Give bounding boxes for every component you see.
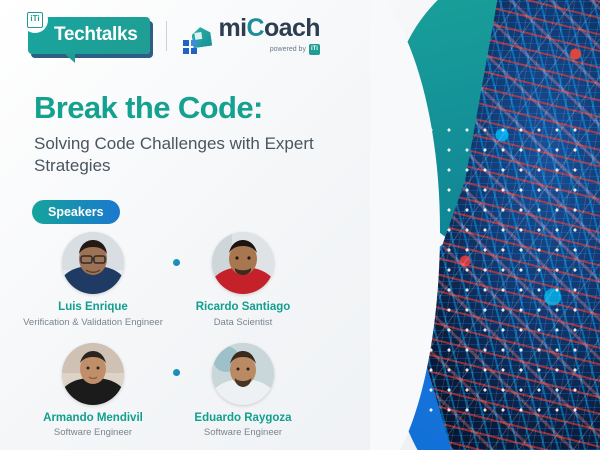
avatar bbox=[212, 343, 274, 405]
micoach-name-part1: mi bbox=[219, 14, 247, 42]
techtalks-logo: iTi Techtalks bbox=[28, 17, 150, 54]
speaker-role: Verification & Validation Engineer bbox=[18, 317, 168, 329]
avatar bbox=[212, 232, 274, 294]
page-subtitle: Solving Code Challenges with Expert Stra… bbox=[34, 133, 364, 178]
powered-by-label: powered by bbox=[270, 46, 306, 53]
speaker-name: Eduardo Raygoza bbox=[168, 412, 318, 426]
dot-separator-icon bbox=[173, 369, 180, 376]
square-d bbox=[191, 40, 197, 46]
powered-by-line: powered by iTi bbox=[270, 44, 320, 55]
square-c bbox=[191, 48, 197, 54]
micoach-text-block: miCoach powered by iTi bbox=[219, 16, 320, 55]
speaker-name: Armando Mendivil bbox=[18, 412, 168, 426]
avatar-photo-eduardo bbox=[212, 343, 274, 405]
micoach-name-part3: oach bbox=[264, 14, 320, 42]
speaker-card: Armando Mendivil Software Engineer bbox=[18, 343, 168, 440]
speakers-grid: Luis Enrique Verification & Validation E… bbox=[18, 232, 318, 439]
techtalks-wordmark: Techtalks bbox=[28, 17, 150, 54]
speakers-badge: Speakers bbox=[32, 200, 120, 224]
page-title: Break the Code: bbox=[34, 92, 364, 125]
speaker-role: Software Engineer bbox=[168, 427, 318, 439]
speaker-role: Data Scientist bbox=[168, 317, 318, 329]
speaker-card: Eduardo Raygoza Software Engineer bbox=[168, 343, 318, 440]
speaker-name: Luis Enrique bbox=[18, 301, 168, 315]
micoach-name-part2: C bbox=[247, 14, 264, 42]
avatar bbox=[62, 232, 124, 294]
square-b bbox=[183, 48, 189, 54]
avatar-photo-luis bbox=[62, 232, 124, 294]
techtalks-monogram: iTi bbox=[27, 12, 43, 28]
micoach-wordmark: miCoach bbox=[219, 16, 320, 41]
techtalks-badge-icon: iTi bbox=[24, 9, 46, 31]
avatar-photo-ricardo bbox=[212, 232, 274, 294]
title-block: Break the Code: Solving Code Challenges … bbox=[34, 92, 364, 177]
micoach-house-icon bbox=[183, 27, 213, 55]
avatar bbox=[62, 343, 124, 405]
speaker-card: Ricardo Santiago Data Scientist bbox=[168, 232, 318, 329]
logo-divider bbox=[166, 21, 167, 51]
micoach-logo: miCoach powered by iTi bbox=[183, 16, 320, 55]
avatar-photo-armando bbox=[62, 343, 124, 405]
event-poster: iTi Techtalks miCoach powered by bbox=[0, 0, 600, 450]
logo-bar: iTi Techtalks miCoach powered by bbox=[28, 16, 320, 55]
speaker-card: Luis Enrique Verification & Validation E… bbox=[18, 232, 168, 329]
dot-separator-icon bbox=[173, 259, 180, 266]
speaker-role: Software Engineer bbox=[18, 427, 168, 439]
speaker-name: Ricardo Santiago bbox=[168, 301, 318, 315]
powered-by-iti-icon: iTi bbox=[309, 44, 320, 55]
square-a bbox=[183, 40, 189, 46]
